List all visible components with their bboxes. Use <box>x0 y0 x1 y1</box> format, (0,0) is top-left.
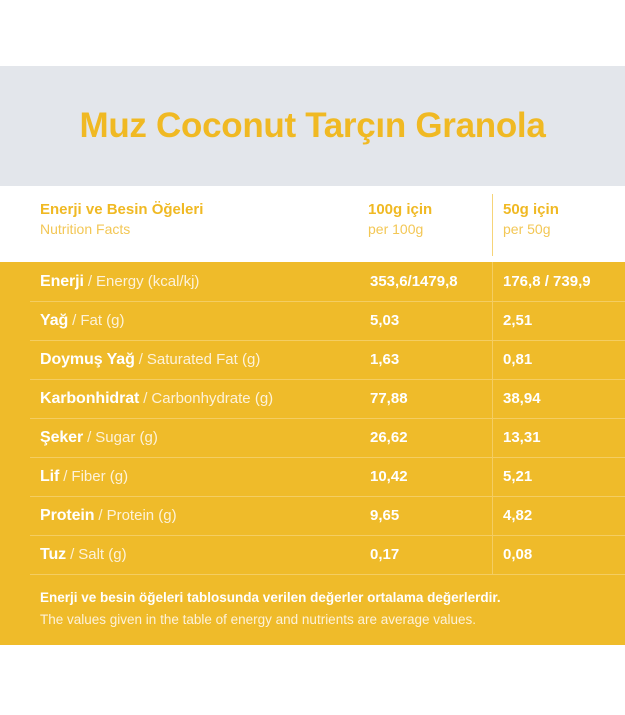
nutrient-name-separator: / <box>139 351 143 368</box>
nutrient-name-cell: Şeker/Sugar (g) <box>40 418 158 457</box>
nutrient-name-cell: Yağ/Fat (g) <box>40 301 125 340</box>
note-text-en: The values given in the table of energy … <box>40 609 585 631</box>
nutrient-name-tr: Karbonhidrat <box>40 390 139 408</box>
nutrient-name-cell: Protein/Protein (g) <box>40 496 177 535</box>
table-row: Protein/Protein (g)9,654,82 <box>0 496 625 535</box>
value-per-50g: 5,21 <box>503 457 532 496</box>
nutrient-name-separator: / <box>87 429 91 446</box>
value-per-100g: 26,62 <box>370 418 408 457</box>
table-row: Lif/Fiber (g)10,425,21 <box>0 457 625 496</box>
note-text-tr: Enerji ve besin öğeleri tablosunda veril… <box>40 588 585 609</box>
nutrient-name-separator: / <box>98 507 102 524</box>
average-values-note: Enerji ve besin öğeleri tablosunda veril… <box>0 574 625 645</box>
header-column-divider <box>492 194 493 256</box>
table-row: Şeker/Sugar (g)26,6213,31 <box>0 418 625 457</box>
nutrient-name-en: Saturated Fat (g) <box>147 351 260 368</box>
header-col1-en: per 100g <box>368 220 488 239</box>
table-column-divider <box>492 262 493 574</box>
header-col2-en: per 50g <box>503 220 618 239</box>
nutrient-name-en: Sugar (g) <box>95 429 158 446</box>
nutrient-name-cell: Enerji/Energy (kcal/kj) <box>40 262 199 301</box>
nutrient-name-en: Energy (kcal/kj) <box>96 273 199 290</box>
header-col1-tr: 100g için <box>368 200 488 220</box>
title-band: Muz Coconut Tarçın Granola <box>0 66 625 186</box>
header-col2-tr: 50g için <box>503 200 618 220</box>
value-per-100g: 9,65 <box>370 496 399 535</box>
table-row: Enerji/Energy (kcal/kj)353,6/1479,8176,8… <box>0 262 625 301</box>
table-header-row: Enerji ve Besin Öğeleri Nutrition Facts … <box>0 186 625 262</box>
nutrient-name-tr: Şeker <box>40 429 83 447</box>
nutrient-name-tr: Tuz <box>40 546 66 564</box>
nutrient-name-separator: / <box>143 390 147 407</box>
nutrient-name-tr: Enerji <box>40 273 84 291</box>
nutrient-name-tr: Doymuş Yağ <box>40 351 135 369</box>
value-per-50g: 176,8 / 739,9 <box>503 262 591 301</box>
nutrient-name-cell: Karbonhidrat/Carbonhydrate (g) <box>40 379 273 418</box>
nutrient-name-cell: Doymuş Yağ/Saturated Fat (g) <box>40 340 260 379</box>
value-per-50g: 4,82 <box>503 496 532 535</box>
nutrient-name-en: Salt (g) <box>78 546 126 563</box>
nutrition-table-rows: Enerji/Energy (kcal/kj)353,6/1479,8176,8… <box>0 262 625 574</box>
value-per-50g: 38,94 <box>503 379 541 418</box>
header-name-tr: Enerji ve Besin Öğeleri <box>40 200 340 220</box>
nutrient-name-en: Protein (g) <box>107 507 177 524</box>
table-row: Karbonhidrat/Carbonhydrate (g)77,8838,94 <box>0 379 625 418</box>
value-per-50g: 0,81 <box>503 340 532 379</box>
table-row: Doymuş Yağ/Saturated Fat (g)1,630,81 <box>0 340 625 379</box>
header-column-100g: 100g için per 100g <box>368 200 488 239</box>
header-column-50g: 50g için per 50g <box>503 200 618 239</box>
value-per-100g: 5,03 <box>370 301 399 340</box>
value-per-50g: 2,51 <box>503 301 532 340</box>
table-row: Yağ/Fat (g)5,032,51 <box>0 301 625 340</box>
value-per-50g: 0,08 <box>503 535 532 574</box>
value-per-100g: 1,63 <box>370 340 399 379</box>
nutrient-name-separator: / <box>63 468 67 485</box>
nutrient-name-tr: Protein <box>40 507 94 525</box>
nutrition-table: Enerji/Energy (kcal/kj)353,6/1479,8176,8… <box>0 262 625 645</box>
nutrient-name-separator: / <box>72 312 76 329</box>
nutrient-name-en: Fat (g) <box>80 312 124 329</box>
nutrient-name-tr: Lif <box>40 468 59 486</box>
nutrient-name-tr: Yağ <box>40 312 68 330</box>
table-row: Tuz/Salt (g)0,170,08 <box>0 535 625 574</box>
nutrition-label-page: Muz Coconut Tarçın Granola Enerji ve Bes… <box>0 0 625 715</box>
value-per-100g: 10,42 <box>370 457 408 496</box>
header-column-name: Enerji ve Besin Öğeleri Nutrition Facts <box>40 200 340 239</box>
nutrient-name-en: Fiber (g) <box>71 468 128 485</box>
nutrient-name-cell: Lif/Fiber (g) <box>40 457 128 496</box>
note-separator <box>30 574 625 575</box>
nutrient-name-cell: Tuz/Salt (g) <box>40 535 127 574</box>
nutrient-name-separator: / <box>88 273 92 290</box>
nutrient-name-en: Carbonhydrate (g) <box>151 390 273 407</box>
value-per-100g: 353,6/1479,8 <box>370 262 458 301</box>
value-per-100g: 0,17 <box>370 535 399 574</box>
header-name-en: Nutrition Facts <box>40 220 340 239</box>
page-title: Muz Coconut Tarçın Granola <box>79 106 545 145</box>
value-per-50g: 13,31 <box>503 418 541 457</box>
value-per-100g: 77,88 <box>370 379 408 418</box>
nutrient-name-separator: / <box>70 546 74 563</box>
